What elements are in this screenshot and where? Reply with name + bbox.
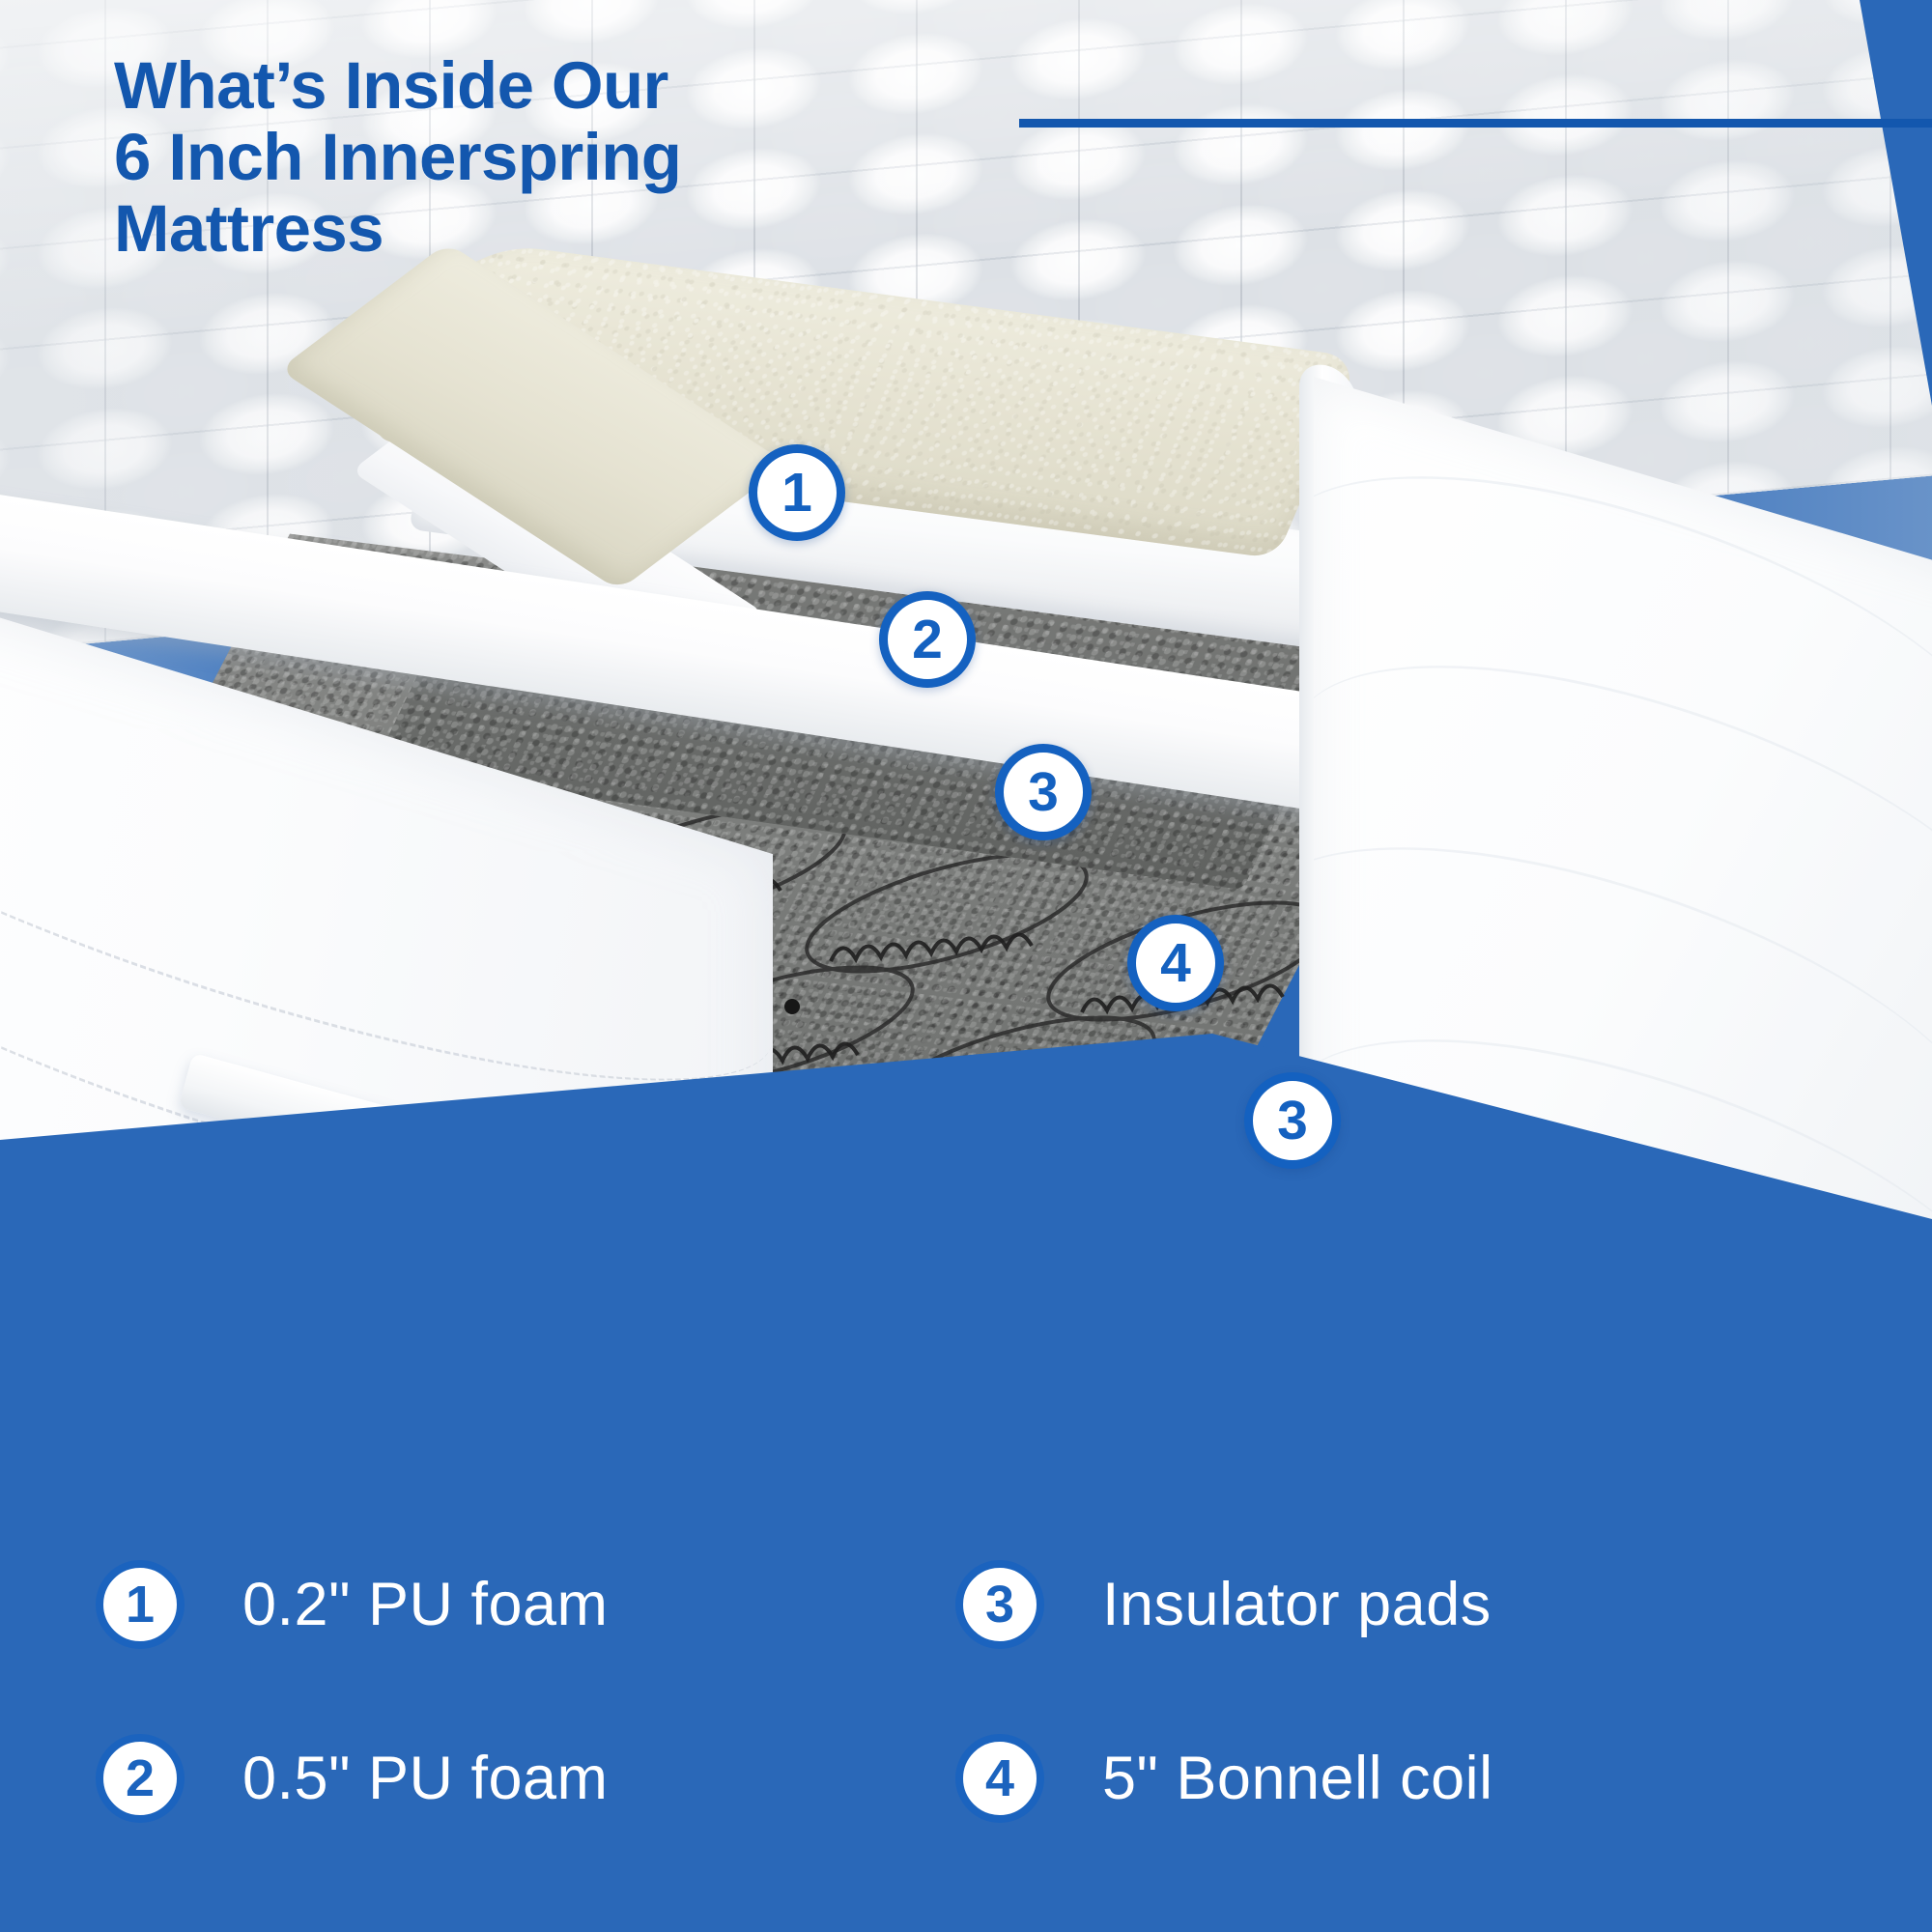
title-divider-rule [1019,119,1932,128]
legend-item-4[interactable]: 4 5" Bonnell coil [955,1734,1493,1823]
callout-badge-4[interactable]: 4 [1127,915,1224,1011]
legend-label-1: 0.2" PU foam [242,1570,609,1639]
callout-badge-3-upper[interactable]: 3 [995,744,1092,840]
legend-badge-2: 2 [96,1734,185,1823]
legend-badge-3: 3 [955,1560,1044,1649]
legend: 1 0.2" PU foam 2 0.5" PU foam 3 Insulato… [0,1352,1932,1932]
infographic-canvas: What’s Inside Our 6 Inch Innerspring Mat… [0,0,1932,1932]
callout-badge-1[interactable]: 1 [749,444,845,541]
legend-item-3[interactable]: 3 Insulator pads [955,1560,1492,1649]
callout-badge-2[interactable]: 2 [879,591,976,688]
legend-badge-1: 1 [96,1560,185,1649]
legend-item-2[interactable]: 2 0.5" PU foam [96,1734,609,1823]
legend-item-1[interactable]: 1 0.2" PU foam [96,1560,609,1649]
callout-badge-3-lower[interactable]: 3 [1244,1072,1341,1169]
legend-label-4: 5" Bonnell coil [1102,1744,1493,1813]
legend-badge-4: 4 [955,1734,1044,1823]
legend-label-2: 0.5" PU foam [242,1744,609,1813]
page-title: What’s Inside Our 6 Inch Innerspring Mat… [114,50,983,264]
legend-label-3: Insulator pads [1102,1570,1492,1639]
